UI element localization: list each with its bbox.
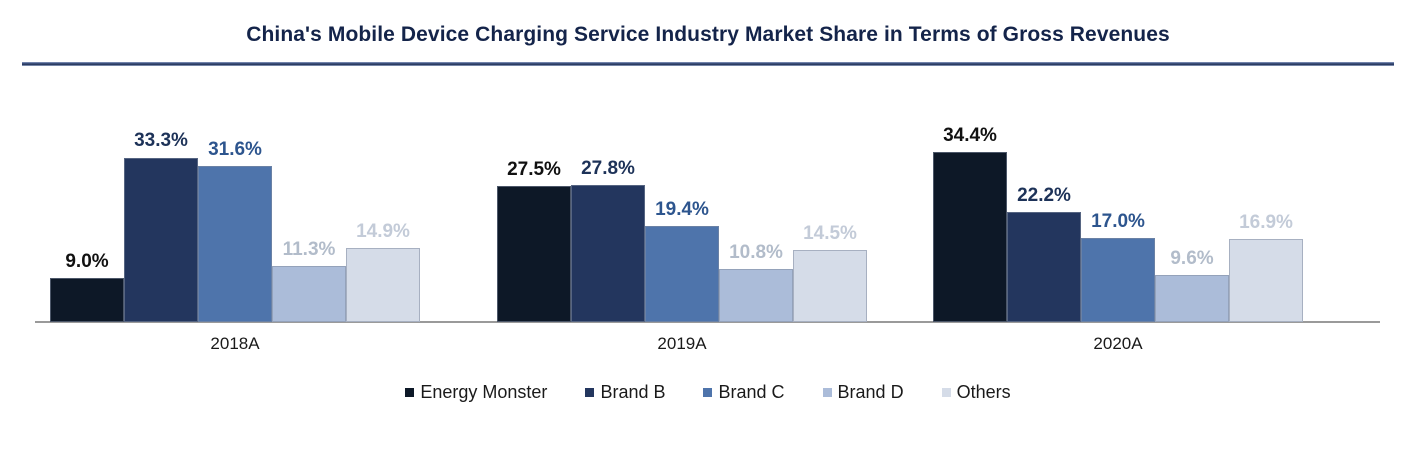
- bar[interactable]: [1229, 239, 1303, 322]
- legend-swatch-icon: [703, 388, 712, 397]
- legend-swatch-icon: [585, 388, 594, 397]
- legend-label: Others: [957, 382, 1011, 402]
- bar-value-label: 9.0%: [44, 251, 130, 273]
- bar[interactable]: [793, 250, 867, 322]
- x-tick-label: 2019A: [497, 334, 867, 354]
- legend-item[interactable]: Others: [942, 382, 1011, 402]
- bar-value-label: 14.5%: [787, 223, 873, 245]
- bar[interactable]: [124, 158, 198, 323]
- bar[interactable]: [1007, 212, 1081, 322]
- bar[interactable]: [346, 248, 420, 322]
- bar-value-label: 16.9%: [1223, 212, 1309, 234]
- legend-item[interactable]: Brand D: [823, 382, 904, 402]
- bar[interactable]: [719, 269, 793, 322]
- bar-value-label: 14.9%: [340, 221, 426, 243]
- bar[interactable]: [50, 278, 124, 322]
- bar[interactable]: [1081, 238, 1155, 322]
- legend-swatch-icon: [823, 388, 832, 397]
- bar[interactable]: [497, 186, 571, 322]
- bar[interactable]: [933, 152, 1007, 322]
- bar-value-label: 22.2%: [1001, 185, 1087, 207]
- bar-value-label: 17.0%: [1075, 211, 1161, 233]
- bar-value-label: 31.6%: [192, 139, 278, 161]
- bar[interactable]: [571, 185, 645, 322]
- x-tick-label: 2020A: [933, 334, 1303, 354]
- legend-item[interactable]: Brand C: [703, 382, 784, 402]
- legend-label: Energy Monster: [420, 382, 547, 402]
- legend-item[interactable]: Brand B: [585, 382, 665, 402]
- chart-container: China's Mobile Device Charging Service I…: [0, 0, 1416, 468]
- legend-item[interactable]: Energy Monster: [405, 382, 547, 402]
- chart-legend: Energy MonsterBrand BBrand CBrand DOther…: [0, 382, 1416, 402]
- bar-value-label: 27.8%: [565, 158, 651, 180]
- bar-value-label: 9.6%: [1149, 248, 1235, 270]
- bar[interactable]: [1155, 275, 1229, 322]
- legend-label: Brand B: [600, 382, 665, 402]
- legend-swatch-icon: [942, 388, 951, 397]
- bar-value-label: 34.4%: [927, 125, 1013, 147]
- legend-swatch-icon: [405, 388, 414, 397]
- bar-value-label: 19.4%: [639, 199, 725, 221]
- bar[interactable]: [272, 266, 346, 322]
- legend-label: Brand C: [718, 382, 784, 402]
- bar[interactable]: [645, 226, 719, 322]
- x-tick-label: 2018A: [50, 334, 420, 354]
- legend-label: Brand D: [838, 382, 904, 402]
- bar[interactable]: [198, 166, 272, 322]
